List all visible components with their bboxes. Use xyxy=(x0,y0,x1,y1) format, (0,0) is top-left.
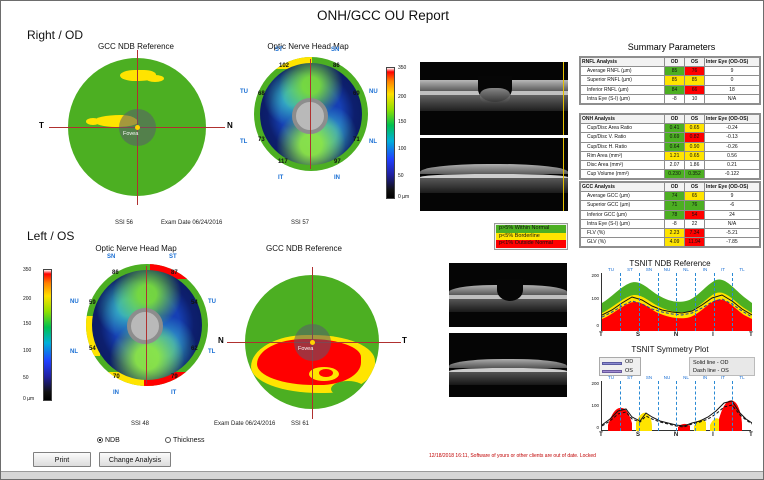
tsnit-symmetry-sector-st: ST xyxy=(621,375,639,380)
table-row: Inferior RNFL (µm) 84 66 18 xyxy=(581,85,760,94)
od-sector-value-st: 102 xyxy=(279,63,289,69)
symmetry-note-box: Solid line - OD Dash line - OS xyxy=(689,357,755,376)
onh-section-name: ONH Analysis xyxy=(581,115,665,124)
os-sector-value-in: 70 xyxy=(113,374,120,380)
os-colorbar-tick-150: 150 xyxy=(23,321,31,327)
os-onh-ssi: SSI 48 xyxy=(131,421,149,427)
os-colorbar xyxy=(43,269,52,401)
tsnit-symmetry-gridline xyxy=(620,381,621,431)
tsnit-symmetry-gridline xyxy=(695,381,696,431)
od-gcc-axis-temporal: T xyxy=(39,121,44,130)
tsnit-symmetry-ytick-0: 0 xyxy=(583,425,599,430)
os-sector-value-tu: 54 xyxy=(191,300,198,306)
od-sector-value-it: 117 xyxy=(278,159,288,165)
os-sector-label-tu: TU xyxy=(208,299,216,305)
row-os: 0.352 xyxy=(685,170,705,179)
row-label: Cup/Disc V. Ratio xyxy=(581,133,665,142)
os-onh-vertical-axis xyxy=(146,266,147,384)
tsnit-ndb-gridline xyxy=(695,273,696,331)
tsnit-symmetry-xtick-t2: T xyxy=(744,432,758,438)
tsnit-symmetry-xtick-n: N xyxy=(669,432,683,438)
os-sector-label-sn: SN xyxy=(107,254,115,260)
od-colorbar xyxy=(386,67,395,199)
od-sector-label-nu: NU xyxy=(369,89,378,95)
row-label: Inferior RNFL (µm) xyxy=(581,85,665,94)
row-od: 0.69 xyxy=(665,133,685,142)
row-os: 1.86 xyxy=(685,161,705,170)
ndb-legend: p>5% Within Normal p<5% Borderline p<1% … xyxy=(494,223,568,250)
os-sector-value-sn: 86 xyxy=(112,270,119,276)
radio-thickness[interactable]: Thickness xyxy=(165,437,205,444)
row-os: 54 xyxy=(685,210,705,219)
col-inter: Inter Eye (OD-OS) xyxy=(705,58,760,67)
tsnit-symmetry-ytick-200: 200 xyxy=(583,381,599,386)
col-os: OS xyxy=(685,115,705,124)
radio-thickness-dot[interactable] xyxy=(165,437,171,443)
row-label: Intra Eye (S-I) (µm) xyxy=(581,94,665,103)
od-sector-value-sn: 86 xyxy=(333,63,340,69)
table-row: Rim Area (mm²) 1.21 0.65 0.56 xyxy=(581,151,760,160)
row-od: 74 xyxy=(665,192,685,201)
row-os: 0.90 xyxy=(685,142,705,151)
tsnit-symmetry-sector-tl: TL xyxy=(733,375,751,380)
od-colorbar-tick-350: 350 xyxy=(398,65,406,71)
legend-outside-normal: p<1% Outside Normal xyxy=(496,240,566,248)
table-row: Cup/Disc V. Ratio 0.69 0.82 -0.13 xyxy=(581,133,760,142)
legend-borderline: p<5% Borderline xyxy=(496,233,566,241)
table-row: Disc Area (mm²) 2.07 1.86 0.21 xyxy=(581,161,760,170)
table-row: Intra Eye (S-I) (µm) -8 10 N/A xyxy=(581,94,760,103)
tsnit-symmetry-sector-nl: NL xyxy=(677,375,695,380)
tsnit-ndb-xtick-t1: T xyxy=(594,332,608,338)
tsnit-symmetry-xtick-i: I xyxy=(706,432,720,438)
tsnit-symmetry-gridline xyxy=(658,381,659,431)
os-gcc-panel-title: GCC NDB Reference xyxy=(229,244,379,253)
od-gcc-axis-nasal: N xyxy=(227,121,233,130)
row-od: 85 xyxy=(665,67,685,76)
col-od: OD xyxy=(665,58,685,67)
table-row: Superior RNFL (µm) 85 85 0 xyxy=(581,76,760,85)
os-gcc-exam-date: Exam Date 06/24/2016 xyxy=(214,421,275,427)
tsnit-symmetry-sector-tu: TU xyxy=(602,375,620,380)
col-os: OS xyxy=(685,58,705,67)
od-colorbar-tick-200: 200 xyxy=(398,94,406,100)
row-label: Superior GCC (µm) xyxy=(581,201,665,210)
row-inter: 0 xyxy=(705,76,760,85)
row-os: 85 xyxy=(685,76,705,85)
gcc-table: GCC Analysis OD OS Inter Eye (OD-OS) Ave… xyxy=(580,182,760,247)
od-fovea-dot xyxy=(135,125,140,130)
symmetry-legend-od: OD xyxy=(625,359,633,365)
od-colorbar-unit: 0 µm xyxy=(398,194,409,200)
tsnit-symmetry-gridline xyxy=(714,381,715,431)
table-row: Superior GCC (µm) 71 76 -6 xyxy=(581,201,760,210)
os-sector-label-nu: NU xyxy=(70,299,79,305)
os-bscan-macula[interactable] xyxy=(449,333,567,397)
od-onh-ssi: SSI 57 xyxy=(291,220,309,226)
tsnit-ndb-sector-nl: NL xyxy=(677,267,695,272)
tsnit-ndb-sector-it: IT xyxy=(714,267,732,272)
row-inter: 9 xyxy=(705,192,760,201)
symmetry-legend: OD OS xyxy=(599,357,641,376)
rnfl-section-name: RNFL Analysis xyxy=(581,58,665,67)
od-fovea-label: Fovea xyxy=(123,131,138,137)
row-label: Rim Area (mm²) xyxy=(581,151,665,160)
row-os: 0.65 xyxy=(685,151,705,160)
row-inter: -6 xyxy=(705,201,760,210)
symmetry-note-solid: Solid line - OD xyxy=(693,360,728,366)
row-os: 76 xyxy=(685,67,705,76)
row-inter: 9 xyxy=(705,67,760,76)
od-sector-label-nl: NL xyxy=(369,139,377,145)
row-od: 2.23 xyxy=(665,229,685,238)
radio-ndb[interactable]: NDB xyxy=(97,437,120,444)
row-inter: -0.122 xyxy=(705,170,760,179)
row-od: 71 xyxy=(665,201,685,210)
os-gcc-axis-temporal: T xyxy=(402,336,407,345)
tsnit-ndb-sector-sn: SN xyxy=(640,267,658,272)
os-colorbar-unit: 0 µm xyxy=(23,396,34,402)
row-od: 78 xyxy=(665,210,685,219)
tsnit-ndb-gridline xyxy=(732,273,733,331)
os-sector-label-in: IN xyxy=(113,390,119,396)
od-sector-value-tu: 68 xyxy=(258,91,265,97)
radio-ndb-label: NDB xyxy=(105,437,120,444)
row-od: 0.41 xyxy=(665,124,685,133)
tsnit-symmetry-sector-nu: NU xyxy=(658,375,676,380)
row-os: 22 xyxy=(685,219,705,228)
left-eye-label: Left / OS xyxy=(27,229,74,243)
row-inter: 0.21 xyxy=(705,161,760,170)
row-os: 11.94 xyxy=(685,238,705,247)
os-sector-label-st: ST xyxy=(169,254,177,260)
od-sector-label-tu: TU xyxy=(240,89,248,95)
os-fovea-dot xyxy=(310,340,315,345)
os-sector-value-tl: 62 xyxy=(191,346,198,352)
onh-table: ONH Analysis OD OS Inter Eye (OD-OS) Cup… xyxy=(580,114,760,179)
os-sector-value-st: 87 xyxy=(171,270,178,276)
tsnit-ndb-sector-nu: NU xyxy=(658,267,676,272)
row-od: 84 xyxy=(665,85,685,94)
tsnit-symmetry-svg xyxy=(602,381,752,431)
tsnit-ndb-gridline xyxy=(620,273,621,331)
tsnit-ndb-sector-in: IN xyxy=(696,267,714,272)
od-onh-vertical-axis xyxy=(310,59,311,169)
gcc-analysis-table: GCC Analysis OD OS Inter Eye (OD-OS) Ave… xyxy=(579,181,761,248)
tsnit-symmetry-gridline xyxy=(639,381,640,431)
os-gcc-ssi: SSI 61 xyxy=(291,421,309,427)
legend-within-normal: p>5% Within Normal xyxy=(496,225,566,233)
footer-bar xyxy=(1,471,764,479)
col-inter: Inter Eye (OD-OS) xyxy=(705,183,760,192)
od-sector-label-in: IN xyxy=(334,175,340,181)
row-od: 1.21 xyxy=(665,151,685,160)
tsnit-symmetry-sector-in: IN xyxy=(696,375,714,380)
od-sector-label-sn: SN xyxy=(331,47,339,53)
symmetry-note-dash: Dash line - OS xyxy=(693,368,729,374)
radio-thickness-label: Thickness xyxy=(173,437,205,444)
row-inter: -0.13 xyxy=(705,133,760,142)
table-row: Cup/Disc Area Ratio 0.41 0.65 -0.24 xyxy=(581,124,760,133)
row-label: Average RNFL (µm) xyxy=(581,67,665,76)
row-os: 0.82 xyxy=(685,133,705,142)
table-row: Average RNFL (µm) 85 76 9 xyxy=(581,67,760,76)
table-header-row: GCC Analysis OD OS Inter Eye (OD-OS) xyxy=(581,183,760,192)
od-onh-panel-title: Optic Nerve Head Map xyxy=(233,42,383,51)
tsnit-ndb-xtick-i: I xyxy=(706,332,720,338)
od-bscan-onh[interactable] xyxy=(420,62,568,135)
symmetry-legend-os: OS xyxy=(625,368,633,374)
row-inter: -0.26 xyxy=(705,142,760,151)
row-label: Cup/Disc H. Ratio xyxy=(581,142,665,151)
row-os: 66 xyxy=(685,85,705,94)
table-row: Cup/Disc H. Ratio 0.64 0.90 -0.26 xyxy=(581,142,760,151)
od-sector-label-it: IT xyxy=(278,175,283,181)
tsnit-ndb-xtick-s: S xyxy=(631,332,645,338)
row-os: 0.65 xyxy=(685,124,705,133)
table-header-row: RNFL Analysis OD OS Inter Eye (OD-OS) xyxy=(581,58,760,67)
tsnit-symmetry-gridline xyxy=(676,381,677,431)
rnfl-analysis-table: RNFL Analysis OD OS Inter Eye (OD-OS) Av… xyxy=(579,56,761,105)
tsnit-ndb-sector-tl: TL xyxy=(733,267,751,272)
tsnit-symmetry-xtick-t1: T xyxy=(594,432,608,438)
row-inter: -0.24 xyxy=(705,124,760,133)
row-label: GLV (%) xyxy=(581,238,665,247)
od-sector-value-in: 97 xyxy=(334,159,341,165)
tsnit-symmetry-gridline xyxy=(732,381,733,431)
os-colorbar-tick-100: 100 xyxy=(23,348,31,354)
os-sector-value-it: 79 xyxy=(171,374,178,380)
row-od: 0.230 xyxy=(665,170,685,179)
os-colorbar-tick-50: 50 xyxy=(23,375,29,381)
row-od: 85 xyxy=(665,76,685,85)
row-label: FLV (%) xyxy=(581,229,665,238)
row-inter: N/A xyxy=(705,219,760,228)
row-os: 76 xyxy=(685,201,705,210)
onh-analysis-table: ONH Analysis OD OS Inter Eye (OD-OS) Cup… xyxy=(579,113,761,180)
row-label: Intra Eye (S-I) (µm) xyxy=(581,219,665,228)
col-od: OD xyxy=(665,115,685,124)
tsnit-symmetry-ytick-100: 100 xyxy=(583,403,599,408)
report-page: ONH/GCC OU Report Right / OD GCC NDB Ref… xyxy=(0,0,764,480)
tsnit-ndb-xtick-n: N xyxy=(669,332,683,338)
gcc-section-name: GCC Analysis xyxy=(581,183,665,192)
tsnit-ndb-gridline xyxy=(676,273,677,331)
od-sector-value-nl: 71 xyxy=(353,137,360,143)
tsnit-ndb-ytick-100: 100 xyxy=(583,296,599,301)
os-sector-value-nl: 54 xyxy=(89,346,96,352)
row-od: 2.07 xyxy=(665,161,685,170)
change-analysis-button[interactable]: Change Analysis xyxy=(99,452,171,467)
table-row: GLV (%) 4.09 11.94 -7.85 xyxy=(581,238,760,247)
os-bscan-onh[interactable] xyxy=(449,263,567,327)
row-label: Inferior GCC (µm) xyxy=(581,210,665,219)
od-bscan-macula[interactable] xyxy=(420,138,568,211)
od-sector-value-nu: 69 xyxy=(353,91,360,97)
row-inter: 18 xyxy=(705,85,760,94)
col-inter: Inter Eye (OD-OS) xyxy=(705,115,760,124)
table-row: FLV (%) 2.23 7.34 -5.21 xyxy=(581,229,760,238)
row-label: Disc Area (mm²) xyxy=(581,161,665,170)
row-od: 0.64 xyxy=(665,142,685,151)
tsnit-ndb-xtick-t2: T xyxy=(744,332,758,338)
od-colorbar-tick-50: 50 xyxy=(398,173,404,179)
row-inter: 0.56 xyxy=(705,151,760,160)
col-od: OD xyxy=(665,183,685,192)
summary-title: Summary Parameters xyxy=(579,42,764,52)
os-sector-label-nl: NL xyxy=(70,349,78,355)
status-message: 12/18/2018 16:11, Software of yours or o… xyxy=(429,453,596,459)
os-gcc-axis-nasal: N xyxy=(218,336,224,345)
row-od: -8 xyxy=(665,94,685,103)
tsnit-ndb-ytick-0: 0 xyxy=(583,323,599,328)
tsnit-symmetry-title: TSNIT Symmetry Plot xyxy=(579,345,761,354)
row-inter: N/A xyxy=(705,94,760,103)
print-button[interactable]: Print xyxy=(33,452,91,467)
od-gcc-panel-title: GCC NDB Reference xyxy=(61,42,211,51)
row-label: Cup/Disc Area Ratio xyxy=(581,124,665,133)
tsnit-ndb-sector-tu: TU xyxy=(602,267,620,272)
row-os: 65 xyxy=(685,192,705,201)
od-gcc-ssi: SSI 56 xyxy=(115,220,133,226)
os-fovea-label: Fovea xyxy=(298,346,313,352)
os-colorbar-tick-350: 350 xyxy=(23,267,31,273)
table-row: Average GCC (µm) 74 65 9 xyxy=(581,192,760,201)
tsnit-ndb-sector-st: ST xyxy=(621,267,639,272)
tsnit-ndb-gridline xyxy=(714,273,715,331)
row-inter: -7.85 xyxy=(705,238,760,247)
od-colorbar-tick-100: 100 xyxy=(398,146,406,152)
os-colorbar-tick-200: 200 xyxy=(23,296,31,302)
row-od: -8 xyxy=(665,219,685,228)
row-label: Cup Volume (mm³) xyxy=(581,170,665,179)
os-sector-label-tl: TL xyxy=(208,349,215,355)
col-os: OS xyxy=(685,183,705,192)
row-inter: -5.21 xyxy=(705,229,760,238)
tsnit-symmetry-sector-sn: SN xyxy=(640,375,658,380)
od-colorbar-tick-150: 150 xyxy=(398,119,406,125)
od-sector-label-tl: TL xyxy=(240,139,247,145)
rnfl-table: RNFL Analysis OD OS Inter Eye (OD-OS) Av… xyxy=(580,57,760,104)
tsnit-symmetry-xtick-s: S xyxy=(631,432,645,438)
right-eye-label: Right / OD xyxy=(27,28,83,42)
od-sector-label-st: ST xyxy=(275,47,283,53)
table-row: Cup Volume (mm³) 0.230 0.352 -0.122 xyxy=(581,170,760,179)
radio-ndb-dot[interactable] xyxy=(97,437,103,443)
table-row: Inferior GCC (µm) 78 54 24 xyxy=(581,210,760,219)
table-row: Intra Eye (S-I) (µm) -8 22 N/A xyxy=(581,219,760,228)
page-title: ONH/GCC OU Report xyxy=(1,8,764,23)
od-gcc-exam-date: Exam Date 06/24/2016 xyxy=(161,220,222,226)
row-os: 10 xyxy=(685,94,705,103)
os-onh-panel-title: Optic Nerve Head Map xyxy=(61,244,211,253)
os-sector-value-nu: 59 xyxy=(89,300,96,306)
tsnit-ndb-ytick-200: 200 xyxy=(583,273,599,278)
row-od: 4.09 xyxy=(665,238,685,247)
row-os: 7.34 xyxy=(685,229,705,238)
table-header-row: ONH Analysis OD OS Inter Eye (OD-OS) xyxy=(581,115,760,124)
tsnit-ndb-gridline xyxy=(658,273,659,331)
tsnit-ndb-gridline xyxy=(639,273,640,331)
os-sector-label-it: IT xyxy=(171,390,176,396)
row-label: Superior RNFL (µm) xyxy=(581,76,665,85)
row-label: Average GCC (µm) xyxy=(581,192,665,201)
od-sector-value-tl: 73 xyxy=(258,137,265,143)
tsnit-symmetry-sector-it: IT xyxy=(714,375,732,380)
tsnit-ndb-svg xyxy=(602,273,752,331)
os-optic-cup xyxy=(127,308,163,344)
row-inter: 24 xyxy=(705,210,760,219)
